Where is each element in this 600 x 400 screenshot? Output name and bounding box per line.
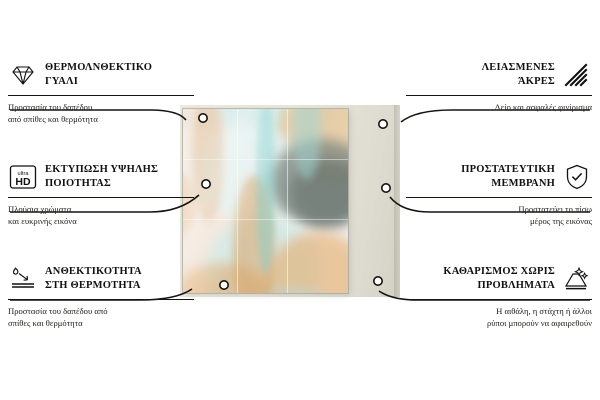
feature-desc-line1: Προστασία του δαπέδου από: [8, 306, 108, 316]
feature-description: Λείο και ασφαλές φινίρισμα: [406, 101, 592, 113]
feature-description: Η αιθάλη, η στάχτη ή άλλοι ρύποι μπορούν…: [406, 305, 592, 329]
feature-heading: ΚΑΘΑΡΙΣΜΟΣ ΧΩΡΙΣ ΠΡΟΒΛΗΜΑΤΑ: [406, 262, 592, 296]
feature-title-line2: ΜΕΜΒΡΑΝΗ: [491, 178, 555, 189]
feature-desc-line1: Προστασία του δαπέδου: [8, 102, 92, 112]
feature-description: Προστασία του δαπέδου από σπίθες και θερ…: [8, 305, 194, 329]
feature-smoothed-edges: ΛΕΙΑΣΜΕΝΕΣ ΆΚΡΕΣ Λείο και ασφαλές φινίρι…: [406, 58, 592, 113]
feature-description: Πλούσια χρώματα και ευκρινής εικόνα: [8, 203, 194, 227]
feature-title-line2: ΠΟΙΟΤΗΤΑΣ: [45, 178, 111, 189]
feature-desc-line1: Η αιθάλη, η στάχτη ή άλλοι: [496, 306, 592, 316]
feature-rule: [406, 197, 592, 198]
feature-heading: ΠΡΟΣΤΑΤΕΥΤΙΚΗ ΜΕΜΒΡΑΝΗ: [406, 160, 592, 194]
feature-high-quality-print: ultra HD ΕΚΤΥΠΩΣΗ ΥΨΗΛΗΣ ΠΟΙΟΤΗΤΑΣ Πλούσ…: [8, 160, 194, 227]
feature-easy-cleaning: ΚΑΘΑΡΙΣΜΟΣ ΧΩΡΙΣ ΠΡΟΒΛΗΜΑΤΑ Η αιθάλη, η …: [406, 262, 592, 329]
feature-desc-line2: σπίθες και θερμότητα: [8, 318, 83, 328]
feature-heading: ΘΕΡΜΟΛΝΘΕΚΤΙΚΟ ΓΥΑΛΙ: [8, 58, 194, 92]
glass-splashback: [183, 109, 348, 293]
feature-desc-line1: Προστατεύει το πίσω: [518, 204, 592, 214]
feature-desc-line2: από σπίθες και θερμότητα: [8, 114, 98, 124]
feature-desc-line2: και ευκρινής εικόνα: [8, 216, 77, 226]
feature-title-line1: ΕΚΤΥΠΩΣΗ ΥΨΗΛΗΣ: [45, 164, 158, 175]
feature-title-line2: ΣΤΗ ΘΕΡΜΟΤΗΤΑ: [45, 280, 141, 291]
feature-desc-line1: Πλούσια χρώματα: [8, 204, 71, 214]
feature-title: ΕΚΤΥΠΩΣΗ ΥΨΗΛΗΣ ΠΟΙΟΤΗΤΑΣ: [45, 163, 158, 191]
feature-rule: [8, 197, 194, 198]
feature-title-line1: ΑΝΘΕΚΤΙΚΟΤΗΤΑ: [45, 266, 142, 277]
feature-rule: [406, 95, 592, 96]
feature-description: Προστασία του δαπέδου από σπίθες και θερ…: [8, 101, 194, 125]
feature-title: ΠΡΟΣΤΑΤΕΥΤΙΚΗ ΜΕΜΒΡΑΝΗ: [461, 163, 555, 191]
feature-title: ΘΕΡΜΟΛΝΘΕΚΤΙΚΟ ΓΥΑΛΙ: [45, 61, 152, 89]
feature-title-line2: ΠΡΟΒΛΗΜΑΤΑ: [478, 280, 555, 291]
feature-heading: ultra HD ΕΚΤΥΠΩΣΗ ΥΨΗΛΗΣ ΠΟΙΟΤΗΤΑΣ: [8, 160, 194, 194]
feature-title-line2: ΆΚΡΕΣ: [518, 76, 555, 87]
shield-check-icon: [562, 162, 592, 192]
feature-desc-line2: μέρος της εικόνας: [530, 216, 592, 226]
feature-description: Προστατεύει το πίσω μέρος της εικόνας: [406, 203, 592, 227]
feature-rule: [406, 299, 592, 300]
ultra-hd-badge-icon: ultra HD: [8, 162, 38, 192]
feature-title-line1: ΛΕΙΑΣΜΕΝΕΣ: [482, 62, 555, 73]
feature-title-line1: ΚΑΘΑΡΙΣΜΟΣ ΧΩΡΙΣ: [443, 266, 555, 277]
beveled-edge-icon: [562, 60, 592, 90]
feature-protective-membrane: ΠΡΟΣΤΑΤΕΥΤΙΚΗ ΜΕΜΒΡΑΝΗ Προστατεύει το πί…: [406, 160, 592, 227]
feature-rule: [8, 299, 194, 300]
feature-desc-line2: ρύποι μπορούν να αφαιρεθούν: [487, 318, 592, 328]
product-image: [180, 105, 400, 297]
feature-heading: ΛΕΙΑΣΜΕΝΕΣ ΆΚΡΕΣ: [406, 58, 592, 92]
feature-title: ΚΑΘΑΡΙΣΜΟΣ ΧΩΡΙΣ ΠΡΟΒΛΗΜΑΤΑ: [443, 265, 555, 293]
feature-heat-durability: ΑΝΘΕΚΤΙΚΟΤΗΤΑ ΣΤΗ ΘΕΡΜΟΤΗΤΑ Προστασία το…: [8, 262, 194, 329]
feature-title: ΛΕΙΑΣΜΕΝΕΣ ΆΚΡΕΣ: [482, 61, 555, 89]
feature-title-line2: ΓΥΑΛΙ: [45, 76, 78, 87]
feature-desc-line1: Λείο και ασφαλές φινίρισμα: [494, 102, 592, 112]
diamond-icon: [8, 60, 38, 90]
flame-deflect-icon: [8, 264, 38, 294]
svg-text:HD: HD: [15, 176, 31, 188]
feature-heat-resistant-glass: ΘΕΡΜΟΛΝΘΕΚΤΙΚΟ ΓΥΑΛΙ Προστασία του δαπέδ…: [8, 58, 194, 125]
feature-rule: [8, 95, 194, 96]
feature-heading: ΑΝΘΕΚΤΙΚΟΤΗΤΑ ΣΤΗ ΘΕΡΜΟΤΗΤΑ: [8, 262, 194, 296]
sponge-sparkle-icon: [562, 264, 592, 294]
feature-title: ΑΝΘΕΚΤΙΚΟΤΗΤΑ ΣΤΗ ΘΕΡΜΟΤΗΤΑ: [45, 265, 142, 293]
feature-title-line1: ΠΡΟΣΤΑΤΕΥΤΙΚΗ: [461, 164, 555, 175]
feature-title-line1: ΘΕΡΜΟΛΝΘΕΚΤΙΚΟ: [45, 62, 152, 73]
infographic-canvas: ΘΕΡΜΟΛΝΘΕΚΤΙΚΟ ΓΥΑΛΙ Προστασία του δαπέδ…: [0, 0, 600, 400]
